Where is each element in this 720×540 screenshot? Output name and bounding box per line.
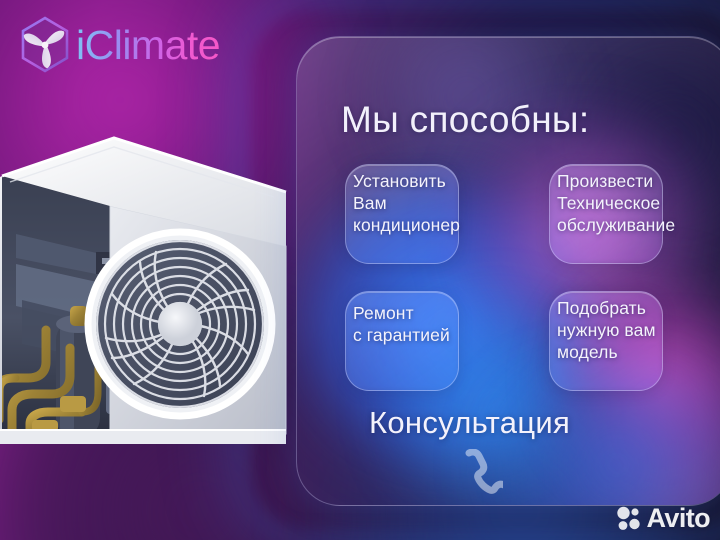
service-card-maintenance-label: Произвести Техническое обслуживание xyxy=(557,170,675,236)
hexagon-fan-icon xyxy=(16,14,74,76)
phone-icon[interactable] xyxy=(459,449,503,497)
service-card-repair-label: Ремонт с гарантией xyxy=(353,302,450,346)
avito-watermark: Avito xyxy=(616,505,711,532)
brand-logo: iClimate xyxy=(16,14,220,76)
consultation-title: Консультация xyxy=(369,405,570,441)
service-card-install-label: Установить Вам кондиционер xyxy=(353,170,460,236)
air-conditioner-image xyxy=(0,134,306,450)
brand-name: iClimate xyxy=(76,22,220,69)
page-title: Мы способны: xyxy=(341,99,589,141)
avito-label: Avito xyxy=(647,505,711,532)
services-panel: Мы способны: Установить Вам кондиционер … xyxy=(296,36,720,506)
service-card-select-model-label: Подобрать нужную вам модель xyxy=(557,297,656,363)
avito-dots-icon xyxy=(616,506,642,532)
poster-canvas: iClimate xyxy=(0,0,720,540)
